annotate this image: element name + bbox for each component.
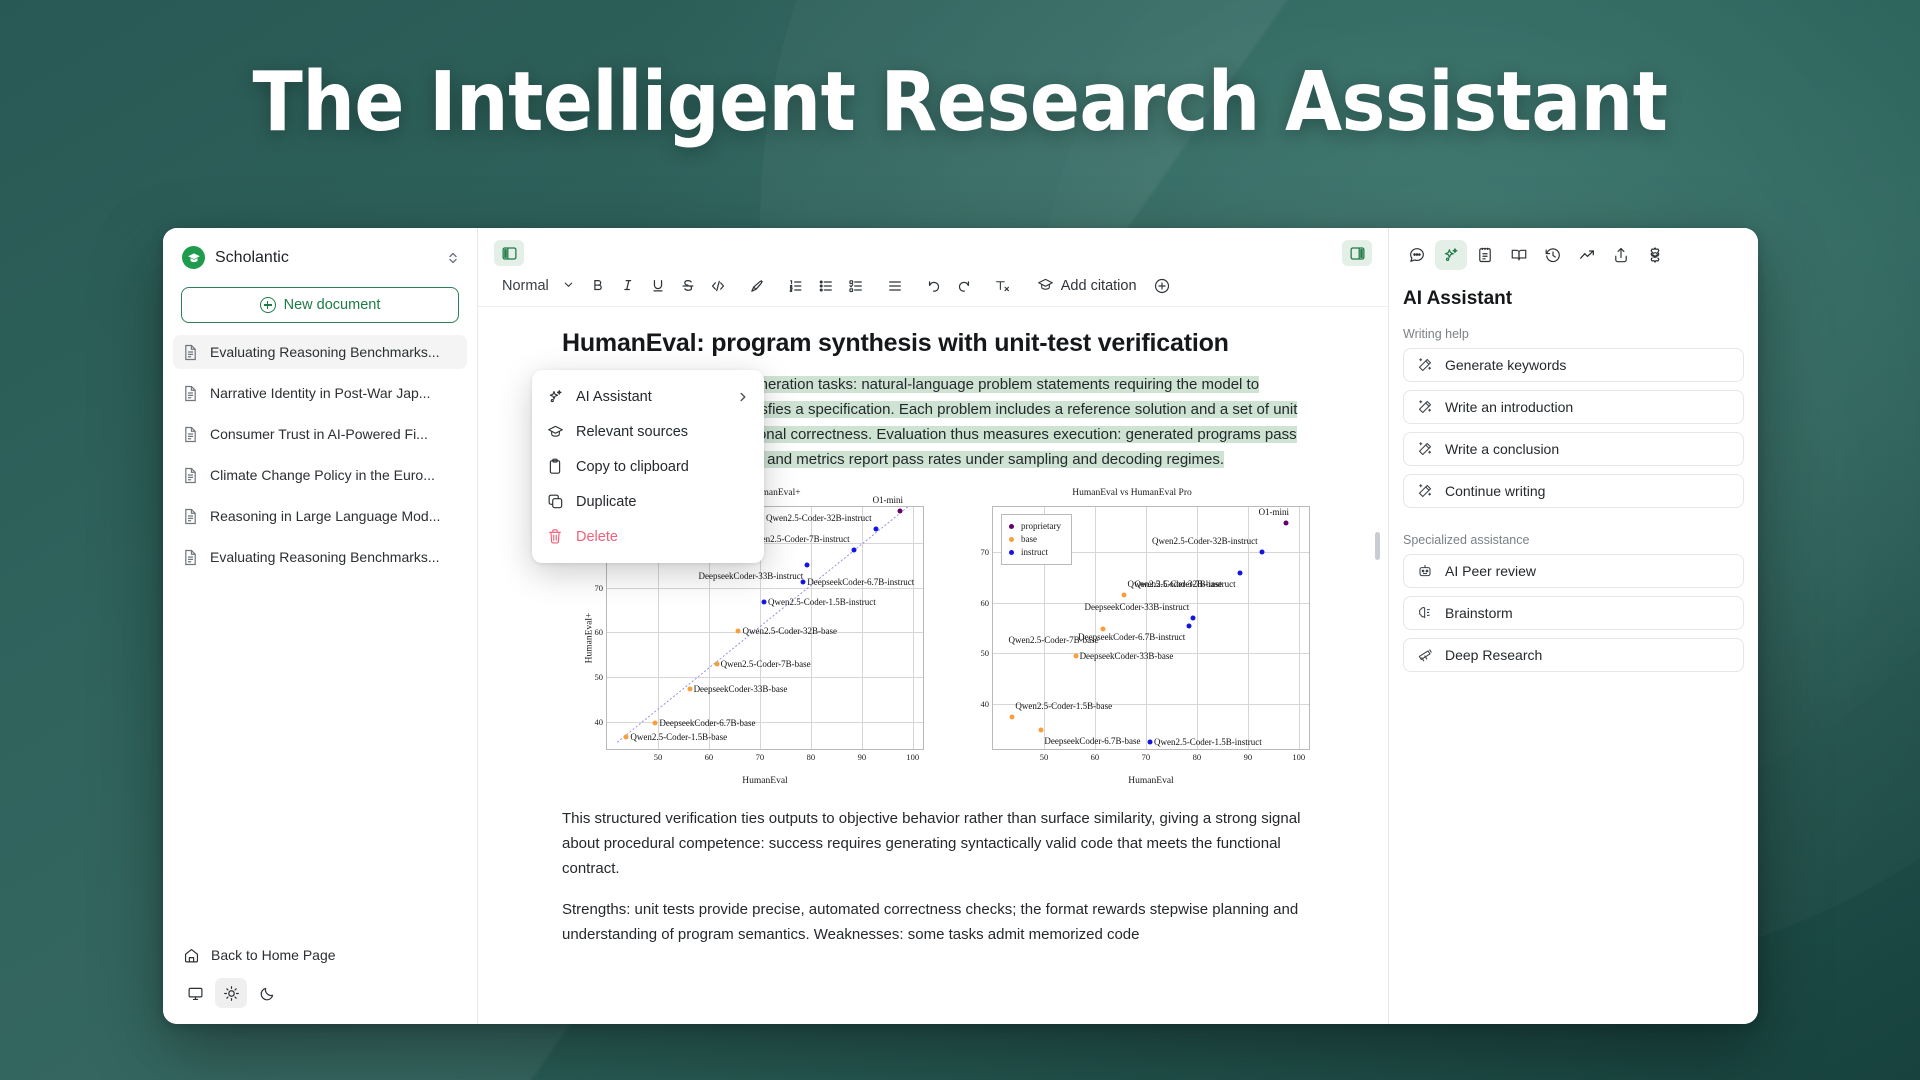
action-label: Brainstorm: [1445, 605, 1513, 621]
chart-x-tick: 100: [1292, 752, 1305, 762]
app-window: Scholantic New document Evaluating Reaso…: [163, 228, 1758, 1024]
context-menu-item-relevant-sources[interactable]: Relevant sources: [532, 414, 764, 449]
chart-data-point: [1147, 740, 1152, 745]
add-citation-label: Add citation: [1061, 278, 1137, 294]
chart-x-tick: 80: [1193, 752, 1202, 762]
chart-point-label: Qwen2.5-Coder-32B-instruct: [1152, 536, 1258, 546]
paragraph-2[interactable]: This structured verification ties output…: [562, 806, 1307, 881]
moon-icon[interactable]: [251, 978, 283, 1008]
chart-x-axis-label: HumanEval: [606, 776, 924, 786]
chevron-down-icon: [563, 278, 574, 294]
chart-x-tick: 70: [1142, 752, 1151, 762]
chart-x-tick: 60: [1091, 752, 1100, 762]
chart-point-label: DeepseekCoder-6.7B-instruct: [1078, 632, 1185, 642]
bullet-list-button[interactable]: [812, 272, 840, 300]
context-menu-item-label: AI Assistant: [576, 389, 652, 405]
section-label-specialized-assistance: Specialized assistance: [1389, 516, 1758, 554]
chart-point-label: DeepseekCoder-33B-base: [1080, 651, 1174, 661]
context-menu-item-label: Copy to clipboard: [576, 459, 689, 475]
chart-legend-dot: [1009, 550, 1014, 555]
chart-data-point: [1187, 623, 1192, 628]
editor-topbar: [478, 228, 1388, 270]
chart-data-point: [1191, 615, 1196, 620]
action-label: Write an introduction: [1445, 399, 1573, 415]
chart-point-label: O1-mini: [873, 495, 904, 505]
chart-y-tick: 40: [581, 717, 603, 727]
chart-data-point: [1100, 627, 1105, 632]
right-panel-tabs: [1389, 228, 1758, 276]
chart-x-tick: 100: [906, 752, 919, 762]
theme-switcher: [173, 972, 467, 1008]
context-menu-item-duplicate[interactable]: Duplicate: [532, 484, 764, 519]
sidebar-footer: Back to Home Page: [163, 938, 477, 1024]
paragraph-3[interactable]: Strengths: unit tests provide precise, a…: [562, 897, 1307, 947]
action-deep-research[interactable]: Deep Research: [1403, 638, 1744, 672]
chart-data-point: [1122, 593, 1127, 598]
document-icon: [183, 385, 200, 402]
panel-right-icon[interactable]: [1342, 240, 1372, 266]
strikethrough-button[interactable]: [674, 272, 702, 300]
action-label: Deep Research: [1445, 647, 1542, 663]
chart-point-label: DeepseekCoder-33B-base: [694, 684, 788, 694]
paragraph-style-dropdown[interactable]: Normal: [500, 278, 582, 294]
chart-data-point: [805, 563, 810, 568]
chart-data-point: [1237, 570, 1242, 575]
editor-pane: Normal Add citation: [478, 228, 1388, 1024]
graduation-cap-logo-icon: [182, 246, 205, 269]
italic-button[interactable]: [614, 272, 642, 300]
workspace-name: Scholantic: [215, 249, 437, 267]
clipboard-icon: [547, 458, 565, 475]
list-item-label: Evaluating Reasoning Benchmarks...: [210, 344, 440, 360]
hero-title: The Intelligent Research Assistant: [253, 55, 1668, 150]
magic-wand-icon: [1417, 357, 1434, 373]
brain-icon: [1417, 605, 1434, 621]
list-item[interactable]: Climate Change Policy in the Euro...: [173, 458, 467, 492]
chart-legend-dot: [1009, 524, 1014, 529]
list-item-label: Evaluating Reasoning Benchmarks...: [210, 549, 440, 565]
new-document-button[interactable]: New document: [181, 287, 459, 323]
chart-data-point: [1073, 654, 1078, 659]
chart-x-tick: 90: [1244, 752, 1253, 762]
action-label: AI Peer review: [1445, 563, 1536, 579]
list-item[interactable]: Narrative Identity in Post-War Jap...: [173, 376, 467, 410]
chart-point-label: O1-mini: [1259, 507, 1290, 517]
back-to-home-button[interactable]: Back to Home Page: [173, 938, 467, 972]
undo-button[interactable]: [920, 272, 948, 300]
chart-data-point: [801, 580, 806, 585]
action-generate-keywords[interactable]: Generate keywords: [1403, 348, 1744, 382]
gear-icon[interactable]: [1639, 240, 1671, 270]
chart-data-point: [687, 686, 692, 691]
chart-x-tick: 60: [705, 752, 714, 762]
chart-y-tick: 60: [967, 598, 989, 608]
share-upload-icon[interactable]: [1605, 240, 1637, 270]
chevron-up-down-icon: [447, 250, 459, 266]
notepad-icon[interactable]: [1469, 240, 1501, 270]
chart-y-tick: 50: [967, 648, 989, 658]
chart-legend-entry: base: [1009, 533, 1061, 546]
list-item[interactable]: Reasoning in Large Language Mod...: [173, 499, 467, 533]
chart-data-point: [1259, 550, 1264, 555]
list-item-label: Climate Change Policy in the Euro...: [210, 467, 435, 483]
action-label: Generate keywords: [1445, 357, 1566, 373]
sparkles-icon[interactable]: [1435, 240, 1467, 270]
ordered-list-button[interactable]: [782, 272, 810, 300]
chart-x-tick: 50: [654, 752, 663, 762]
chart-plot-area: 506070809010040506070O1-miniQwen2.5-Code…: [992, 506, 1310, 750]
robot-icon: [1417, 563, 1434, 579]
graduation-cap-icon: [1037, 277, 1054, 296]
action-write-an-introduction[interactable]: Write an introduction: [1403, 390, 1744, 424]
chat-bubble-icon[interactable]: [1401, 240, 1433, 270]
chart-point-label: DeepseekCoder-6.7B-base: [1044, 736, 1140, 746]
book-open-icon[interactable]: [1503, 240, 1535, 270]
chart-legend-label: proprietary: [1021, 520, 1061, 533]
plus-circle-icon: [260, 297, 276, 313]
chart-point-label: Qwen2.5-Coder-32B-base: [742, 626, 837, 636]
chart-data-point: [736, 629, 741, 634]
right-panel: AI Assistant Writing help Generate keywo…: [1388, 228, 1758, 1024]
chart-point-label: Qwen2.5-Coder-1.5B-instruct: [768, 597, 876, 607]
chart-legend-label: instruct: [1021, 546, 1048, 559]
chart-data-point: [624, 735, 629, 740]
graduation-cap-icon: [547, 424, 565, 439]
panel-left-icon[interactable]: [494, 240, 524, 266]
list-item[interactable]: Evaluating Reasoning Benchmarks...: [173, 335, 467, 369]
chart-data-point: [761, 600, 766, 605]
sidebar: Scholantic New document Evaluating Reaso…: [163, 228, 478, 1024]
underline-button[interactable]: [644, 272, 672, 300]
context-menu-item-copy-to-clipboard[interactable]: Copy to clipboard: [532, 449, 764, 484]
sun-icon[interactable]: [215, 978, 247, 1008]
new-document-label: New document: [284, 297, 381, 313]
document-list: Evaluating Reasoning Benchmarks... Narra…: [163, 335, 477, 581]
chart-legend-entry: proprietary: [1009, 520, 1061, 533]
action-label: Write a conclusion: [1445, 441, 1559, 457]
home-icon: [183, 947, 200, 964]
chart-data-point: [873, 527, 878, 532]
context-menu-item-label: Duplicate: [576, 494, 636, 510]
chart-data-point: [1039, 727, 1044, 732]
chart-legend: proprietarybaseinstruct: [1001, 514, 1072, 565]
clear-format-button[interactable]: [989, 272, 1017, 300]
list-item[interactable]: Evaluating Reasoning Benchmarks...: [173, 540, 467, 574]
chart-humaneval-vs-humaneval-pro: HumanEval vs HumanEval Pro HumanEval Pro…: [948, 488, 1316, 788]
magic-wand-icon: [1417, 441, 1434, 457]
action-write-a-conclusion[interactable]: Write a conclusion: [1403, 432, 1744, 466]
scrollbar-thumb[interactable]: [1375, 532, 1380, 560]
monitor-icon[interactable]: [179, 978, 211, 1008]
chart-x-axis-label: HumanEval: [992, 776, 1310, 786]
chart-point-label: Qwen2.5-Coder-7B-base: [721, 659, 811, 669]
duplicate-icon: [547, 493, 565, 510]
chart-gridline: [1095, 507, 1096, 749]
chart-data-point: [653, 721, 658, 726]
context-menu-item-delete[interactable]: Delete: [532, 519, 764, 554]
context-menu-item-label: Delete: [576, 529, 618, 545]
chart-point-label: Qwen2.5-Coder-1.5B-base: [1015, 701, 1112, 711]
chart-x-tick: 80: [807, 752, 816, 762]
document-icon: [183, 426, 200, 443]
list-item-label: Narrative Identity in Post-War Jap...: [210, 385, 430, 401]
chart-point-label: Qwen2.5-Coder-1.5B-base: [630, 732, 727, 742]
chart-title: HumanEval vs HumanEval Pro: [948, 488, 1316, 498]
chart-gridline: [1299, 507, 1300, 749]
right-panel-title: AI Assistant: [1389, 276, 1758, 310]
chart-gridline: [1146, 507, 1147, 749]
formatting-toolbar: Normal Add citation: [478, 270, 1388, 307]
trend-up-icon[interactable]: [1571, 240, 1603, 270]
chart-legend-label: base: [1021, 533, 1037, 546]
list-item-label: Consumer Trust in AI-Powered Fi...: [210, 426, 428, 442]
context-menu: AI Assistant Relevant sources Copy to cl…: [532, 370, 764, 563]
chart-x-tick: 50: [1040, 752, 1049, 762]
chart-gridline: [607, 588, 923, 589]
page-title: HumanEval: program synthesis with unit-t…: [562, 329, 1324, 358]
chart-y-tick: 60: [581, 627, 603, 637]
document-icon: [183, 344, 200, 361]
sparkles-icon: [547, 388, 565, 405]
chart-y-tick: 40: [967, 699, 989, 709]
chart-legend-dot: [1009, 537, 1014, 542]
chart-data-point: [851, 547, 856, 552]
chart-y-tick: 70: [581, 583, 603, 593]
highlighter-icon[interactable]: [743, 272, 771, 300]
document-icon: [183, 508, 200, 525]
magic-wand-icon: [1417, 399, 1434, 415]
chart-x-tick: 70: [756, 752, 765, 762]
chart-point-label: Qwen2.5-Coder-7B-instruct: [1135, 579, 1236, 589]
document-icon: [183, 549, 200, 566]
action-label: Continue writing: [1445, 483, 1545, 499]
chart-data-point: [1010, 714, 1015, 719]
chart-y-tick: 50: [581, 672, 603, 682]
chart-point-label: Qwen2.5-Coder-32B-instruct: [766, 513, 872, 523]
chart-point-label: Qwen2.5-Coder-1.5B-instruct: [1154, 737, 1262, 747]
action-ai-peer-review[interactable]: AI Peer review: [1403, 554, 1744, 588]
paragraph-style-label: Normal: [502, 278, 549, 294]
chart-point-label: DeepseekCoder-6.7B-base: [659, 718, 755, 728]
chevron-right-icon: [737, 391, 749, 403]
chart-data-point: [714, 661, 719, 666]
back-to-home-label: Back to Home Page: [211, 947, 336, 963]
align-left-icon[interactable]: [881, 272, 909, 300]
chart-point-label: DeepseekCoder-33B-instruct: [1085, 602, 1190, 612]
action-brainstorm[interactable]: Brainstorm: [1403, 596, 1744, 630]
redo-button[interactable]: [950, 272, 978, 300]
chart-x-tick: 90: [858, 752, 867, 762]
hero-banner: The Intelligent Research Assistant: [0, 0, 1920, 205]
document-icon: [183, 467, 200, 484]
magic-wand-icon: [1417, 483, 1434, 499]
chart-data-point: [898, 509, 903, 514]
chart-y-tick: 70: [967, 547, 989, 557]
code-button[interactable]: [704, 272, 732, 300]
chart-data-point: [1284, 521, 1289, 526]
plus-circle-icon[interactable]: [1148, 272, 1176, 300]
chart-point-label: DeepseekCoder-33B-instruct: [699, 571, 804, 581]
list-item-label: Reasoning in Large Language Mod...: [210, 508, 440, 524]
checklist-button[interactable]: [842, 272, 870, 300]
section-label-writing-help: Writing help: [1389, 310, 1758, 348]
chart-point-label: DeepseekCoder-6.7B-instruct: [807, 577, 914, 587]
context-menu-item-ai-assistant[interactable]: AI Assistant: [532, 379, 764, 414]
workspace-switcher[interactable]: Scholantic: [163, 228, 477, 279]
add-citation-button[interactable]: Add citation: [1028, 272, 1146, 300]
chart-legend-entry: instruct: [1009, 546, 1061, 559]
context-menu-item-label: Relevant sources: [576, 424, 688, 440]
bold-button[interactable]: [584, 272, 612, 300]
list-item[interactable]: Consumer Trust in AI-Powered Fi...: [173, 417, 467, 451]
chart-y-axis-label: HumanEval+: [584, 613, 594, 664]
action-continue-writing[interactable]: Continue writing: [1403, 474, 1744, 508]
trash-icon: [547, 528, 565, 545]
clock-history-icon[interactable]: [1537, 240, 1569, 270]
chart-gridline: [607, 677, 923, 678]
telescope-icon: [1417, 647, 1434, 663]
